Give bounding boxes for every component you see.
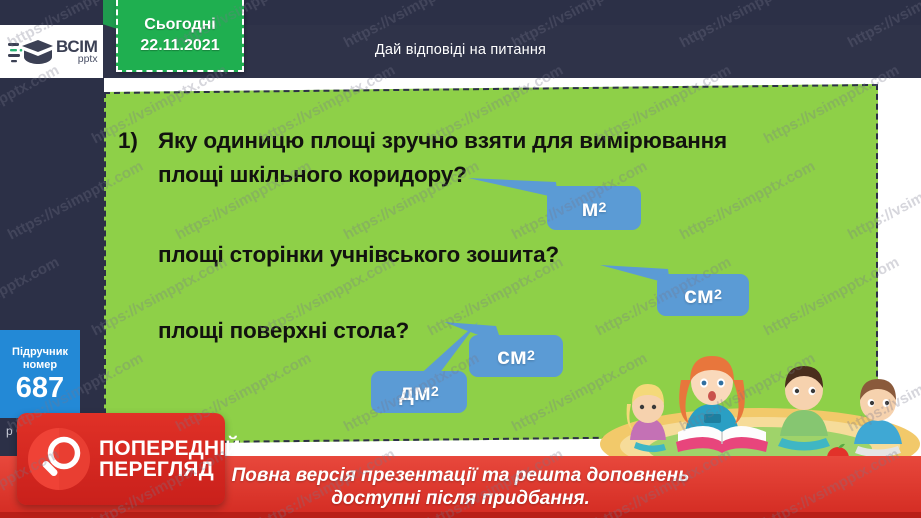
teacher [676,356,768,453]
banner-line-1: Повна версія презентації та решта доповн… [232,465,690,487]
preview-text-block: ПОПЕРЕДНІЙ ПЕРЕГЛЯД [99,438,241,480]
question-line-1-text: Яку одиницю площі зручно взяти для вимір… [158,128,727,153]
magnifier-icon [27,427,91,491]
brand-text: ВСІМ pptx [56,38,98,65]
textbook-number: 687 [16,373,64,403]
answer-bubble-cm2[interactable]: см2 [469,335,563,377]
slide-root: Дай відповіді на питання ВСІМ pptx Сього… [0,0,921,518]
date-label: Сьогодні [144,16,215,34]
graduation-cap-icon [8,37,54,67]
speech-bubble-tail-m [468,176,558,200]
textbook-label-line1: Підручник [12,346,68,359]
question-line-2: площі шкільного коридору? [158,162,467,188]
banner-line-2: доступні після придбання. [331,488,590,510]
question-number: 1) [118,128,158,154]
answer-bubble-m-base: м [582,195,599,222]
question-line-4: площі поверхні стола? [158,318,409,344]
answer-bubble-dm-base: дм [399,379,431,406]
date-badge: Сьогодні 22.11.2021 [116,0,244,72]
answer-bubble-dm[interactable]: дм2 [371,371,467,413]
question-line-3: площі сторінки учнівського зошита? [158,242,559,268]
textbook-number-box: Підручник номер 687 [0,330,80,418]
answer-bubble-cm2-base: см [497,343,527,370]
question-line-1: 1)Яку одиницю площі зручно взяти для вим… [118,128,727,154]
preview-overlay-badge[interactable]: ПОПЕРЕДНІЙ ПЕРЕГЛЯД [17,413,225,505]
textbook-label-line2: номер [23,359,57,372]
banner-underline [0,512,921,518]
answer-bubble-m[interactable]: м2 [547,186,641,230]
preview-line-2: ПЕРЕГЛЯД [99,459,241,480]
brand-logo[interactable]: ВСІМ pptx [0,25,103,78]
classroom-illustration [592,336,921,462]
preview-line-1: ПОПЕРЕДНІЙ [99,438,241,459]
date-value: 22.11.2021 [140,37,219,55]
answer-bubble-cm1-base: см [684,282,714,309]
answer-bubble-cm1[interactable]: см2 [657,274,749,316]
